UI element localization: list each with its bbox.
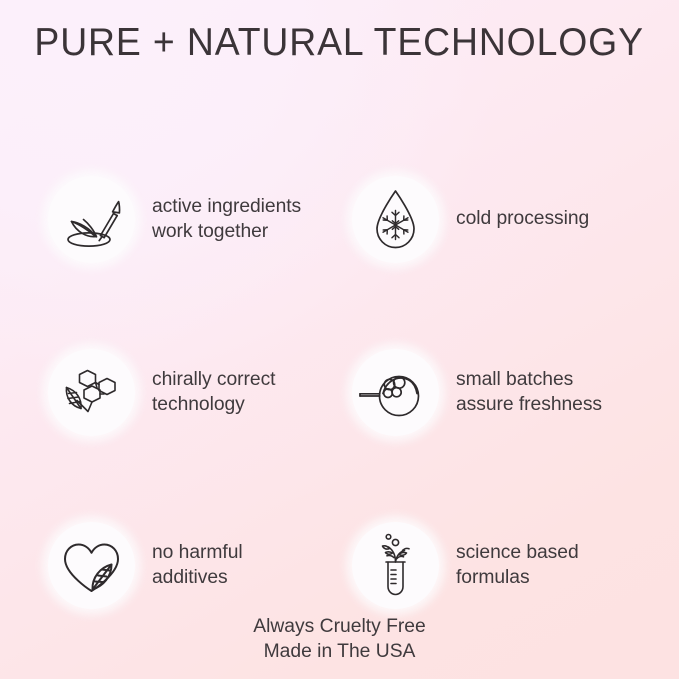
feature-item-small-batches: small batches assure freshness: [344, 306, 679, 479]
feature-label: no harmful additives: [152, 541, 243, 590]
feature-label: small batches assure freshness: [456, 368, 602, 417]
feature-label: science based formulas: [456, 541, 579, 590]
infographic-panel: PURE + NATURAL TECHNOLOGY: [0, 0, 679, 679]
feature-label: cold processing: [456, 207, 589, 232]
feature-item-cold-processing: cold processing: [344, 133, 679, 306]
heart-leaf-icon: [48, 522, 135, 609]
page-title: PURE + NATURAL TECHNOLOGY: [35, 22, 644, 64]
molecule-leaf-icon: [48, 349, 135, 436]
droplet-snowflake-icon: [352, 176, 439, 263]
test-tube-plant-icon: [352, 522, 439, 609]
feature-label: chirally correct technology: [152, 368, 275, 417]
feature-item-chirally-correct: chirally correct technology: [0, 306, 344, 479]
dropper-leaf-icon: [48, 176, 135, 263]
feature-row: chirally correct technology: [0, 306, 679, 479]
feature-item-active-ingredients: active ingredients work together: [0, 133, 344, 306]
footer-text: Always Cruelty Free Made in The USA: [0, 614, 679, 665]
feature-grid: active ingredients work together: [0, 133, 679, 652]
page-title-container: PURE + NATURAL TECHNOLOGY: [0, 22, 679, 64]
feature-label: active ingredients work together: [152, 195, 301, 244]
feature-row: active ingredients work together: [0, 133, 679, 306]
spoon-ingredients-icon: [352, 349, 439, 436]
